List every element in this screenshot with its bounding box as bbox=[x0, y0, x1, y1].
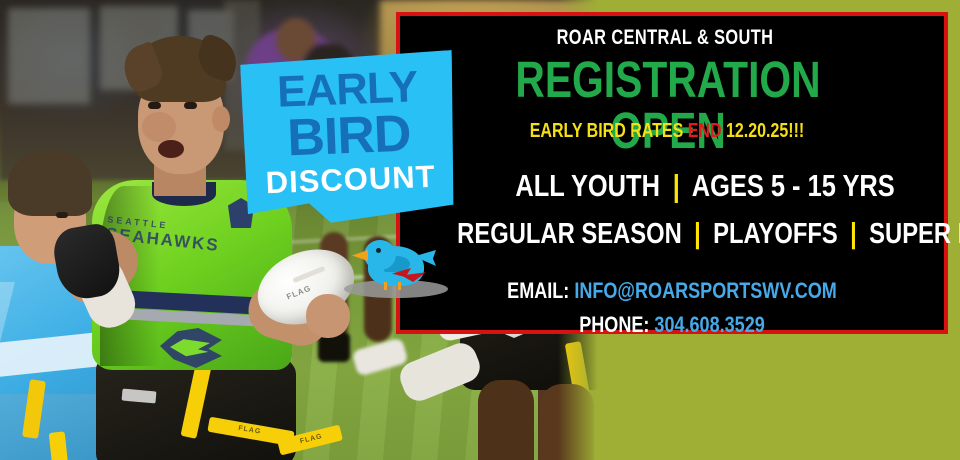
player-eye bbox=[184, 102, 197, 109]
flag-brand-text: FLAG bbox=[238, 425, 262, 436]
separator-pipe: | bbox=[688, 218, 706, 250]
bird-leg-icon bbox=[398, 282, 401, 290]
season-regular: REGULAR SEASON bbox=[457, 218, 682, 250]
badge-line-discount: DISCOUNT bbox=[244, 160, 457, 199]
eligibility-ages: AGES 5 - 15 YRS bbox=[692, 168, 895, 203]
email-label: EMAIL: bbox=[507, 278, 569, 303]
bird-mascot bbox=[340, 236, 460, 306]
eligibility-youth: ALL YOUTH bbox=[515, 168, 660, 203]
early-bird-discount-badge: EARLY BIRD DISCOUNT bbox=[240, 50, 458, 226]
player-ear bbox=[212, 106, 230, 132]
flag-belt-strap bbox=[49, 431, 72, 460]
season-playoffs: PLAYOFFS bbox=[713, 218, 838, 250]
phone-label: PHONE: bbox=[579, 312, 649, 337]
registration-info-panel: ROAR CENTRAL & SOUTH REGISTRATION OPEN E… bbox=[396, 12, 948, 334]
face-shading bbox=[142, 112, 176, 142]
flag-brand-text: FLAG bbox=[299, 433, 323, 445]
separator-pipe: | bbox=[844, 218, 862, 250]
rates-end-word: END bbox=[688, 120, 722, 142]
player-eye bbox=[148, 102, 161, 109]
player-mouth bbox=[158, 140, 184, 158]
rates-date: 12.20.25!!! bbox=[726, 120, 804, 142]
season-offerings-line: REGULAR SEASON | PLAYOFFS | SUPER BOWL bbox=[457, 218, 887, 251]
bird-eye-icon bbox=[376, 248, 381, 253]
bird-head-icon bbox=[364, 240, 396, 270]
separator-pipe: | bbox=[667, 168, 686, 203]
badge-line-bird: BIRD bbox=[242, 106, 456, 166]
bird-leg-icon bbox=[384, 282, 387, 290]
early-bird-deadline: EARLY BIRD RATES END 12.20.25!!! bbox=[453, 120, 880, 143]
phone-value[interactable]: 304.608.3529 bbox=[654, 312, 764, 337]
phone-line: PHONE: 304.608.3529 bbox=[457, 312, 887, 338]
email-value[interactable]: INFO@ROARSPORTSWV.COM bbox=[574, 278, 836, 303]
player-leg bbox=[478, 380, 534, 460]
eligibility-line: ALL YOUTH | AGES 5 - 15 YRS bbox=[515, 168, 892, 204]
rates-prefix: EARLY BIRD RATES bbox=[530, 120, 684, 142]
organization-name: ROAR CENTRAL & SOUTH bbox=[458, 26, 871, 50]
bird-beak-icon bbox=[352, 250, 368, 261]
email-line: EMAIL: INFO@ROARSPORTSWV.COM bbox=[457, 278, 887, 304]
season-super-bowl: SUPER BOWL bbox=[869, 218, 960, 250]
